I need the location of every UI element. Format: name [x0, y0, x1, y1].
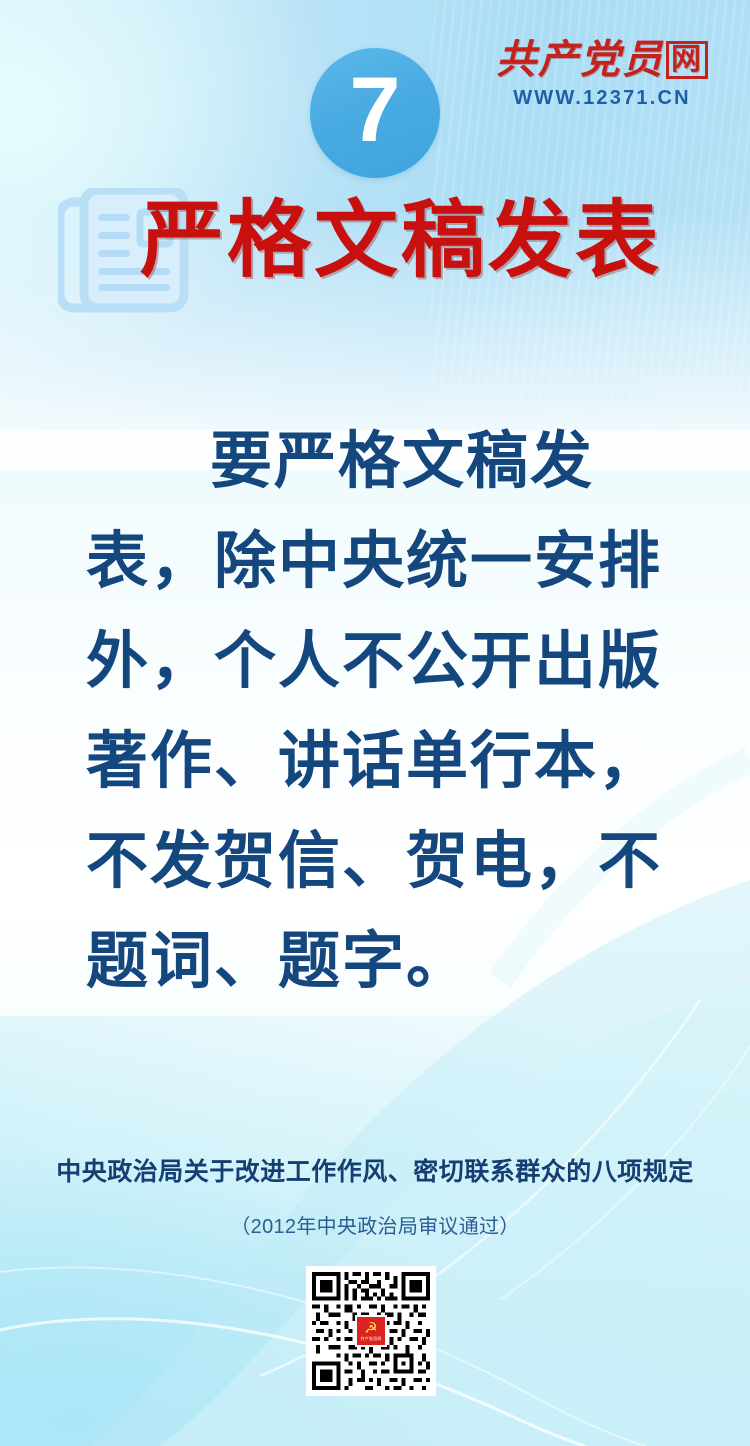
- poster-root: 共产党员网 WWW.12371.CN 7 严格文稿发表 要严格文稿发表，除中央统…: [0, 0, 750, 1446]
- brand-name-boxed-char: 网: [666, 41, 708, 79]
- qr-code[interactable]: ☭ 共产党员网: [306, 1266, 436, 1396]
- regulation-title: 中央政治局关于改进工作作风、密切联系群众的八项规定: [0, 1152, 750, 1188]
- adoption-note: （2012年中央政治局审议通过）: [0, 1210, 750, 1239]
- qr-code-canvas: ☭ 共产党员网: [312, 1272, 430, 1390]
- item-number-badge: 7: [310, 48, 440, 178]
- party-emblem-label: 共产党员网: [361, 1336, 382, 1341]
- hammer-sickle-icon: ☭: [364, 1322, 377, 1336]
- brand-name: 共产党员网: [492, 40, 712, 80]
- party-emblem-icon: ☭ 共产党员网: [355, 1315, 387, 1347]
- brand-name-text: 共产党员: [496, 37, 664, 82]
- brand-url: WWW.12371.CN: [492, 87, 712, 110]
- item-number-value: 7: [310, 48, 440, 178]
- brand-logo: 共产党员网 WWW.12371.CN: [492, 40, 712, 110]
- body-paragraph: 要严格文稿发表，除中央统一安排外，个人不公开出版著作、讲话单行本，不发贺信、贺电…: [86, 412, 676, 1012]
- page-title: 严格文稿发表: [140, 192, 700, 291]
